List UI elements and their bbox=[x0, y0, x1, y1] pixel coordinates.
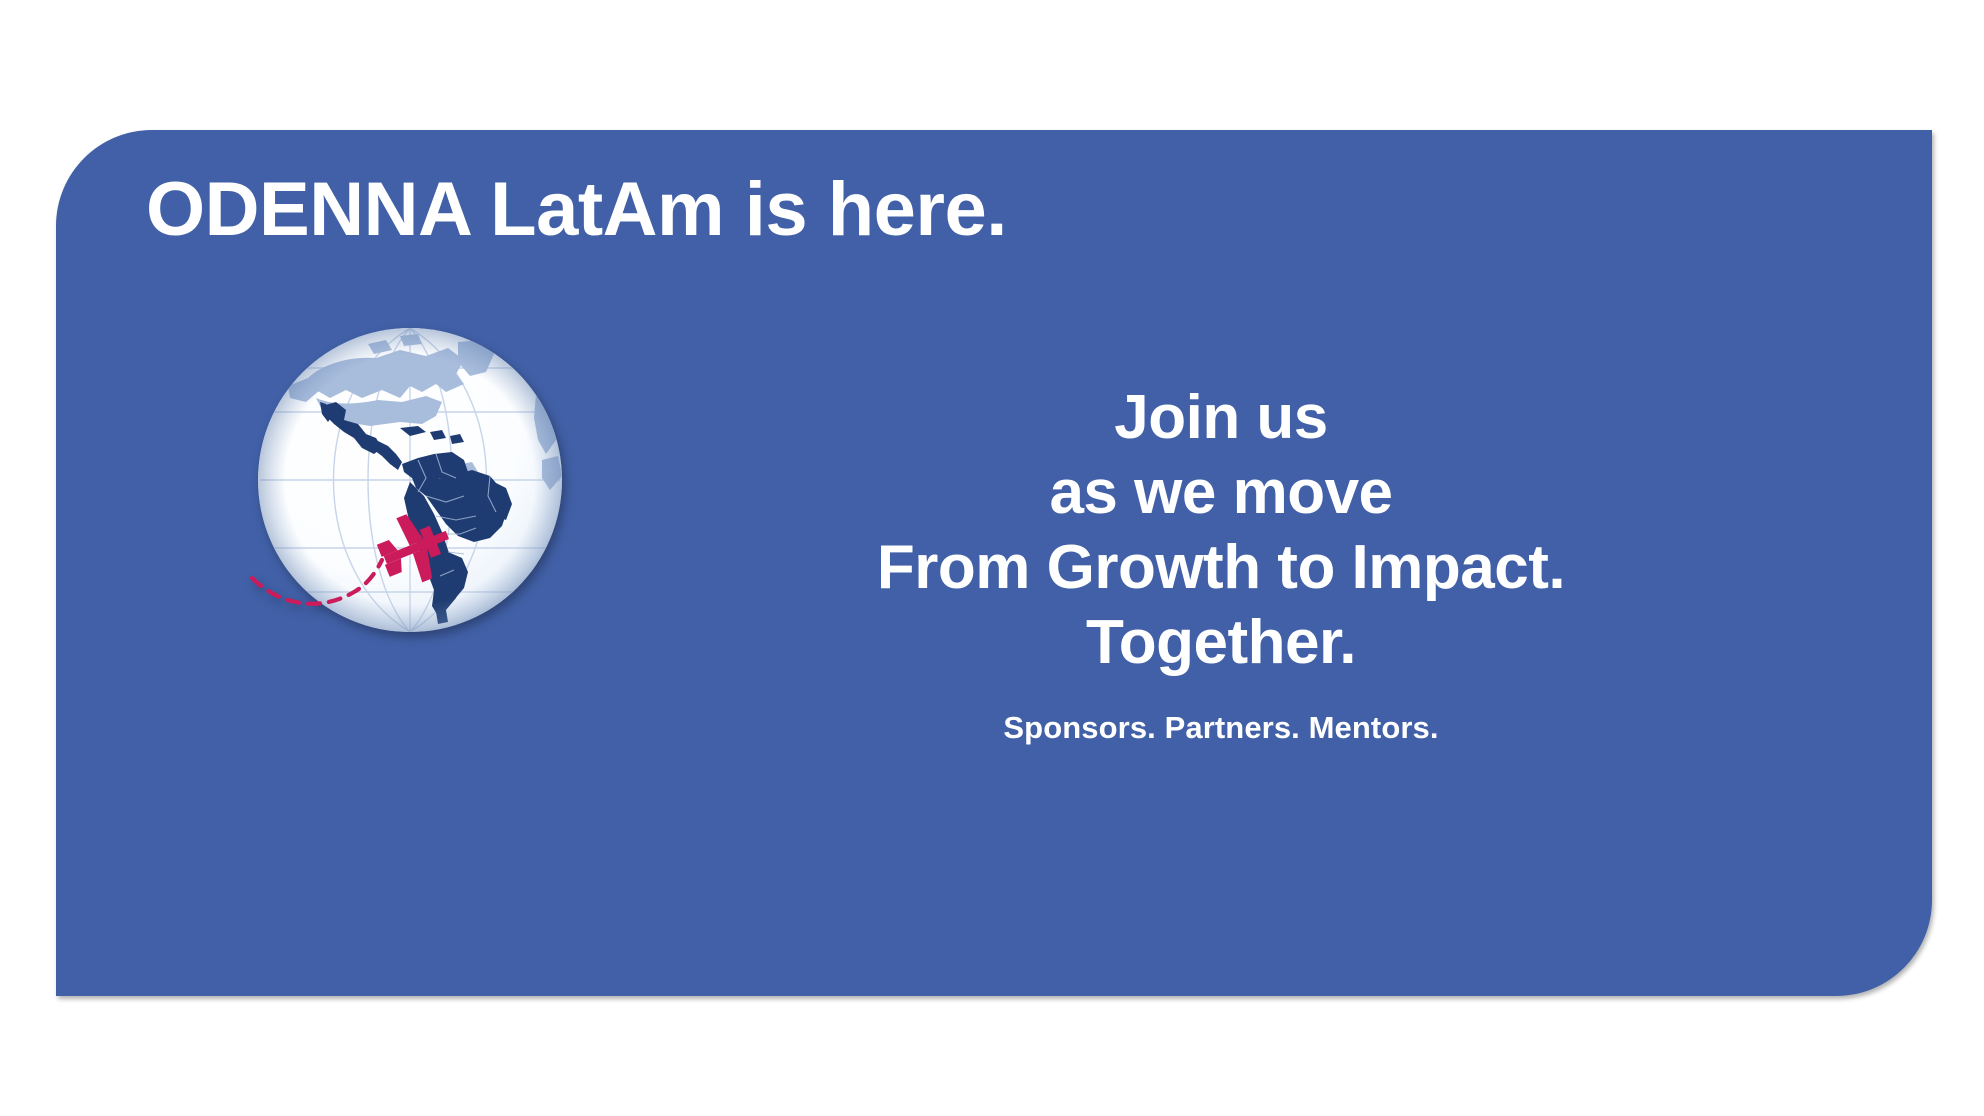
announcement-card: ODENNA LatAm is here. bbox=[56, 130, 1932, 996]
globe-graphic bbox=[250, 320, 570, 640]
page-title: ODENNA LatAm is here. bbox=[146, 172, 1007, 248]
message-line-1: Join us bbox=[556, 380, 1886, 455]
message-line-2: as we move bbox=[556, 455, 1886, 530]
globe-latin-america-with-airplane-icon bbox=[250, 320, 570, 640]
audience-tagline: Sponsors. Partners. Mentors. bbox=[556, 710, 1886, 746]
message-line-4: Together. bbox=[556, 605, 1886, 680]
message-line-3: From Growth to Impact. bbox=[556, 530, 1886, 605]
message-block: Join us as we move From Growth to Impact… bbox=[556, 380, 1886, 746]
